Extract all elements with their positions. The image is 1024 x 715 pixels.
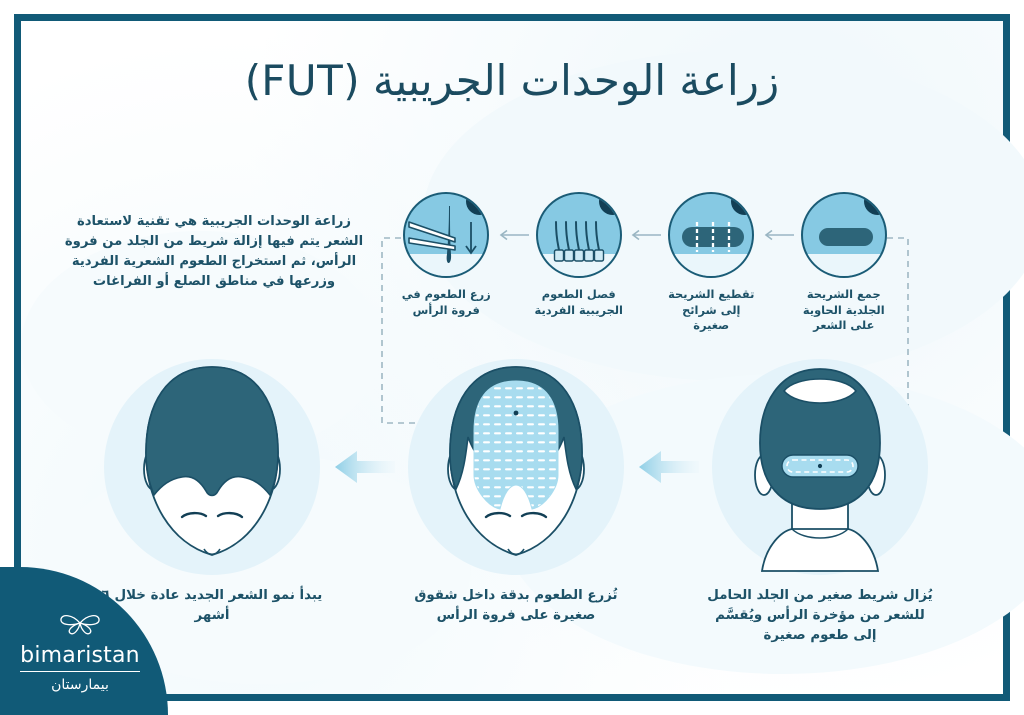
step-2-label: تقطيع الشريحة إلى شرائح صغيرة <box>665 287 758 334</box>
head-back-donor-strip <box>720 357 920 577</box>
step-arrow-1 <box>758 192 798 278</box>
forceps-implant-icon: ٤ <box>403 192 489 278</box>
stage-arrow-1 <box>637 447 699 487</box>
page-title: زراعة الوحدات الجريبية (FUT) <box>0 56 1024 105</box>
process-steps: ١ جمع الشريحة الجلدية الحاوية على الشعر … <box>400 192 890 332</box>
step-4-label: زرع الطعوم في فروة الرأس <box>400 287 493 318</box>
caption-gap-2 <box>333 586 395 646</box>
stage-1-illustration <box>704 352 936 582</box>
stage-2-caption: تُزرع الطعوم بدقة داخل شقوق صغيرة على فر… <box>400 586 632 646</box>
caption-gap-1 <box>637 586 699 646</box>
infographic-canvas: زراعة الوحدات الجريبية (FUT) زراعة الوحد… <box>0 0 1024 715</box>
head-front-full-hair <box>112 357 312 577</box>
stage-arrow-2 <box>333 447 395 487</box>
skin-strip-icon: ١ <box>801 192 887 278</box>
brand-name-latin: bimaristan <box>20 644 140 672</box>
strip-dissection-icon: ٢ <box>668 192 754 278</box>
head-front-graft-placement <box>416 357 616 577</box>
stage-3-illustration <box>96 352 328 582</box>
step-1[interactable]: ١ جمع الشريحة الجلدية الحاوية على الشعر <box>798 192 891 334</box>
step-1-label: جمع الشريحة الجلدية الحاوية على الشعر <box>798 287 891 334</box>
stage-illustrations <box>96 352 936 582</box>
step-4-badge: ٤ <box>466 192 489 215</box>
step-3-label: فصل الطعوم الجريبية الفردية <box>533 287 626 318</box>
step-arrow-2 <box>625 192 665 278</box>
leaf-icon <box>12 610 148 640</box>
stage-1-caption: يُزال شريط صغير من الجلد الحامل للشعر من… <box>704 586 936 646</box>
step-4[interactable]: ٤ زرع الطعوم في فروة الرأس <box>400 192 493 318</box>
step-arrow-3 <box>493 192 533 278</box>
stage-2-illustration <box>400 352 632 582</box>
stage-captions: يُزال شريط صغير من الجلد الحامل للشعر من… <box>96 586 936 646</box>
brand-name-arabic: بيمارستان <box>12 677 148 693</box>
step-2-badge: ٢ <box>731 192 754 215</box>
step-2[interactable]: ٢ تقطيع الشريحة إلى شرائح صغيرة <box>665 192 758 334</box>
follicular-units-icon: ٣ <box>536 192 622 278</box>
step-3[interactable]: ٣ فصل الطعوم الجريبية الفردية <box>533 192 626 318</box>
intro-paragraph: زراعة الوحدات الجريبية هي تقنية لاستعادة… <box>64 212 364 292</box>
